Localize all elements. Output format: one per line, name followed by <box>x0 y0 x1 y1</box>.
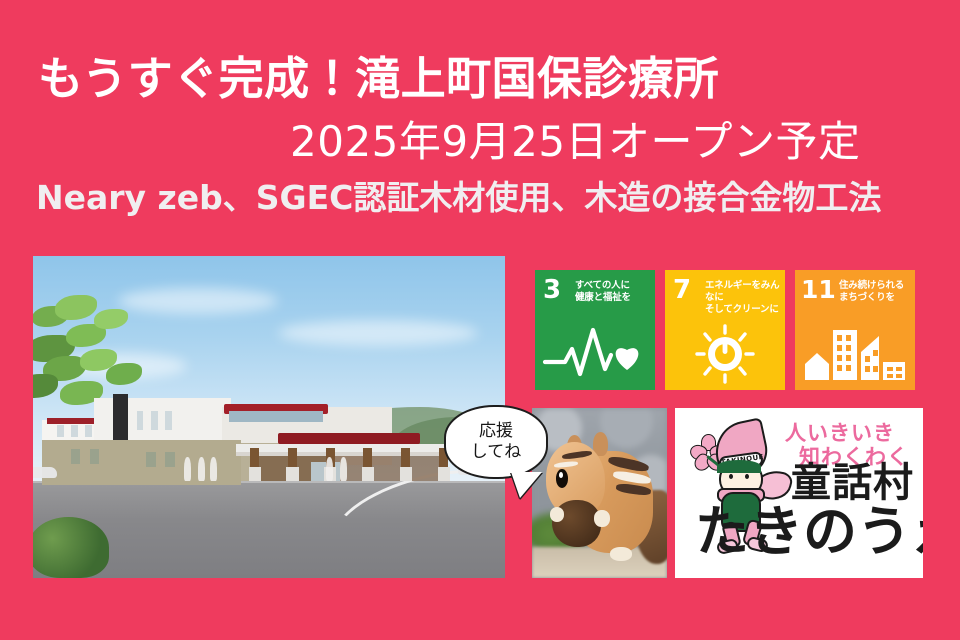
sdg-number: 7 <box>673 277 691 303</box>
sdg-caption-line1: エネルギーをみんなに <box>705 280 781 304</box>
roof-accent <box>47 418 99 424</box>
sun-power-icon <box>665 322 785 384</box>
shrub <box>33 517 109 578</box>
building-render-image <box>33 256 505 578</box>
page-title-line2: 2025年9月25日オープン予定 <box>290 120 950 164</box>
page-subtitle-line3: Neary zeb、SGEC認証木材使用、木造の接合金物工法 <box>36 181 936 216</box>
poster-canvas: もうすぐ完成！滝上町国保診療所 2025年9月25日オープン予定 Neary z… <box>0 0 960 640</box>
mascot-eye <box>745 474 749 479</box>
town-logo: TAKINOUE 人いきいき 知わくわく 童話村 たきのうえ <box>675 408 923 578</box>
logo-bottom-text: たきのうえ <box>695 505 923 559</box>
page-title-line1: もうすぐ完成！滝上町国保診療所 <box>38 55 918 102</box>
figure <box>340 457 347 481</box>
sdg-number: 3 <box>543 277 561 303</box>
sdg-caption-line2: 健康と福祉を <box>575 292 651 304</box>
figure <box>326 457 333 481</box>
mascot-eye <box>729 474 733 479</box>
sdg-caption-line2: そしてクリーンに <box>705 304 781 316</box>
sdg-goal-3[interactable]: 3 すべての人に 健康と福祉を <box>535 270 655 390</box>
speech-bubble-line1: 応援 <box>479 421 513 442</box>
figure <box>198 457 205 481</box>
city-buildings-icon <box>795 322 915 384</box>
sdg-goal-11[interactable]: 11 住み続けられる まちづくりを <box>795 270 915 390</box>
chipmunk-photo <box>532 408 667 578</box>
sdg-caption-line1: すべての人に <box>575 280 651 292</box>
sdg-caption-line2: まちづくりを <box>839 292 911 304</box>
sdg-goal-7[interactable]: 7 エネルギーをみんなに そしてクリーンに <box>665 270 785 390</box>
figure <box>184 457 191 481</box>
logo-middle-text: 童話村 <box>791 463 914 503</box>
heartbeat-heart-icon <box>535 322 655 384</box>
mascot-hair <box>717 460 761 473</box>
parked-car <box>33 467 57 478</box>
speech-bubble: 応援 してね <box>444 405 548 479</box>
red-roof-2 <box>278 433 420 444</box>
figure <box>210 457 217 481</box>
speech-bubble-tail <box>511 472 542 498</box>
sdg-number: 11 <box>801 277 836 302</box>
window-band <box>229 411 323 422</box>
speech-bubble-line2: してね <box>471 442 522 463</box>
sdg-caption-line1: 住み続けられる <box>839 280 911 292</box>
